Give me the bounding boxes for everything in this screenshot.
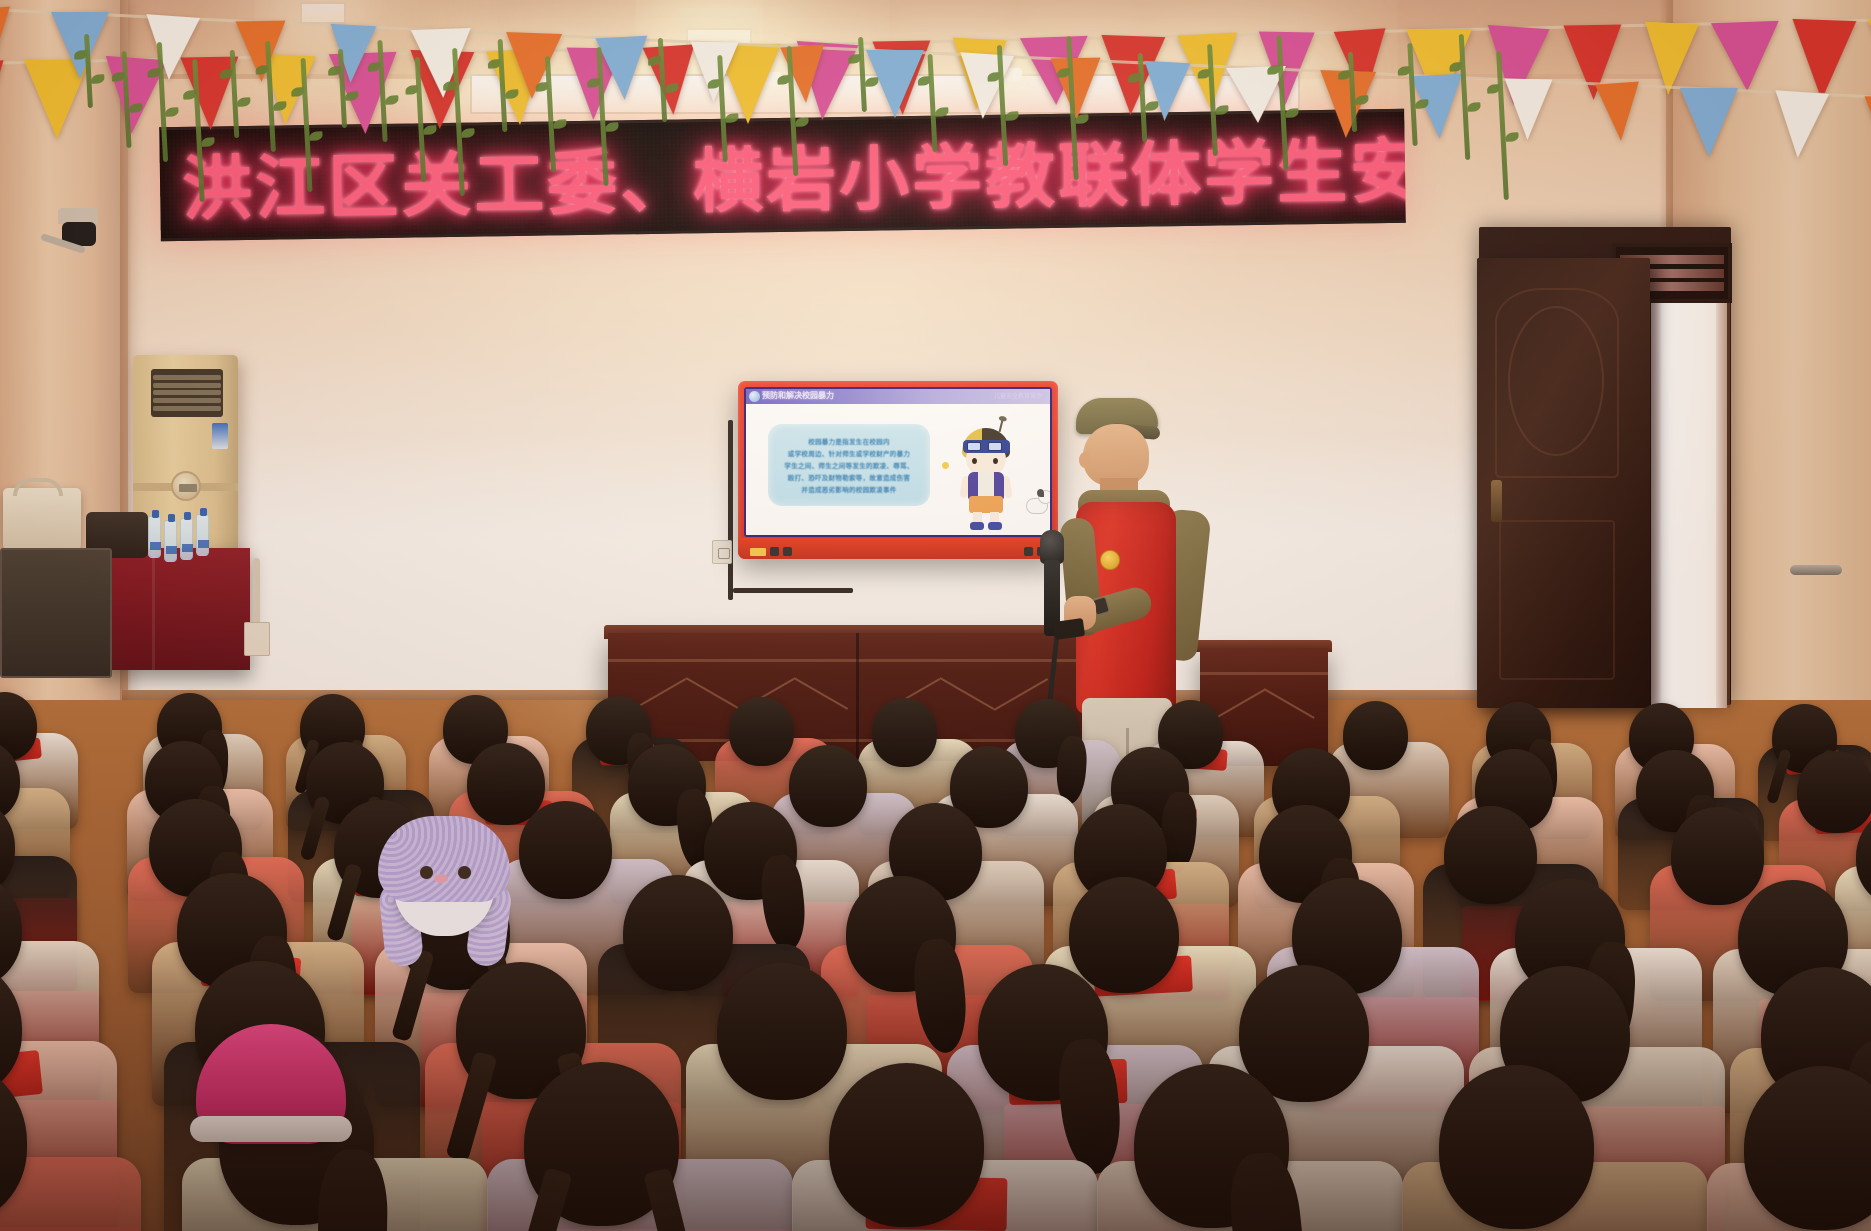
kid-head: [872, 698, 937, 767]
display-button-3[interactable]: [1024, 547, 1033, 556]
bunny-eye-right: [458, 866, 471, 879]
kid-head: [1797, 751, 1871, 833]
ac-vent-slat: [153, 375, 221, 380]
bunting-flag: [1680, 88, 1738, 157]
volunteer-badge-icon: [1100, 550, 1120, 570]
bunny-nose: [434, 874, 448, 883]
bunting-flag: [596, 36, 651, 102]
boy-shoe-right: [988, 522, 1002, 530]
bunting-flag: [1142, 61, 1191, 122]
boy-eye-left: [972, 458, 977, 464]
kid-head: [1671, 807, 1764, 905]
display-chin-bar: [738, 538, 1058, 559]
podium-chevron: [794, 677, 849, 710]
ceiling-light-panel-left: [300, 2, 346, 24]
door-lower-panel: [1499, 520, 1615, 680]
podium-center-seam: [856, 633, 859, 761]
bunting-flag: [1864, 96, 1871, 160]
podium-right-chevron: [1214, 689, 1265, 720]
kid-head: [1439, 1065, 1594, 1229]
bunting-flag: [1050, 58, 1101, 121]
ac-display-dial[interactable]: [171, 471, 201, 501]
shoulder-bag[interactable]: [3, 488, 81, 550]
pink-hat-brim: [190, 1116, 352, 1142]
ac-vent-slat: [153, 383, 221, 388]
podium-right-rail: [1200, 672, 1328, 675]
slide-callout-box: 校园暴力是指发生在校园内 或学校周边、针对师生或学校财产的暴力 学生之间、师生之…: [768, 424, 930, 506]
podium-chevron: [686, 677, 741, 710]
kid-head: [623, 875, 733, 991]
bunny-fur-hood: [378, 816, 510, 902]
bunting-flag: [1595, 82, 1643, 143]
kid-head: [829, 1063, 984, 1227]
water-bottle[interactable]: [180, 518, 193, 560]
display-power-led: [750, 548, 766, 556]
kid-head: [789, 745, 867, 827]
slide-title-bar: 预防和解决校园暴力 儿童安全教育课件: [746, 389, 1050, 404]
photo-scene: 洪江区关工委、横岩小学教联体学生安全教育 预防和解决校园暴力 儿童安全教育课件 …: [0, 0, 1871, 1231]
bunting-flag: [51, 12, 109, 79]
kid-head: [717, 963, 847, 1100]
bunting-flag: [956, 52, 1014, 121]
wall-junction-box: [244, 622, 270, 656]
security-door[interactable]: [1477, 258, 1650, 708]
ac-energy-label: [212, 423, 228, 449]
bunting-flag: [689, 41, 738, 102]
slide-corner-text: 儿童安全教育课件: [994, 391, 1042, 400]
bunting-flag: [1770, 90, 1828, 160]
door-lock-plate[interactable]: [1491, 480, 1502, 522]
kid-head: [519, 801, 612, 899]
cartoon-dog-illustration: [1024, 490, 1050, 524]
display-screen: 预防和解决校园暴力 儿童安全教育课件 校园暴力是指发生在校园内 或学校周边、针对…: [746, 389, 1050, 535]
interactive-display[interactable]: 预防和解决校园暴力 儿童安全教育课件 校园暴力是指发生在校园内 或学校周边、针对…: [738, 381, 1058, 559]
ac-vent-slat: [153, 390, 221, 395]
display-button-2[interactable]: [783, 547, 792, 556]
microphone-icon[interactable]: [1040, 530, 1064, 564]
boy-shoe-left: [970, 522, 984, 530]
slide-line-2: 或学校周边、针对师生或学校财产的暴力: [788, 448, 910, 458]
presenter-head: [1083, 424, 1149, 486]
table-cloth-fold: [152, 548, 155, 670]
bunting-flag: [1790, 19, 1857, 101]
water-bottle[interactable]: [196, 514, 209, 556]
slide-line-5: 并造成恶劣影响的校园欺凌事件: [801, 484, 896, 494]
doorway-shadow-edge: [1716, 258, 1730, 708]
slide-line-3: 学生之间、师生之间等发生的欺凌、辱骂、: [784, 460, 913, 470]
presenter-ear: [1079, 452, 1091, 468]
podium-right-chevron: [1264, 688, 1315, 719]
bunting-flag: [1318, 70, 1376, 139]
tv-cable-loop: [733, 588, 853, 593]
speaker-cabinet: [0, 548, 112, 678]
boy-shorts: [969, 496, 1003, 513]
cartoon-boy-illustration: [952, 420, 1022, 530]
boy-antenna: [999, 420, 1004, 432]
dog-ear: [1037, 489, 1044, 497]
slide-line-1: 校园暴力是指发生在校园内: [808, 436, 890, 446]
kid-head: [467, 743, 545, 825]
podium-chevron: [940, 677, 995, 710]
ac-air-vent: [151, 369, 223, 417]
water-bottle[interactable]: [148, 516, 161, 558]
ac-vent-slat: [153, 398, 221, 403]
bunting-flag: [1711, 20, 1781, 91]
kid-head: [1444, 806, 1537, 904]
kid-head: [729, 697, 794, 766]
door-oval-detail: [1508, 306, 1604, 456]
pink-knitted-hat: [196, 1024, 346, 1144]
tv-cable-vertical: [728, 420, 733, 600]
boy-goggle-lens-left: [967, 442, 981, 451]
slide-line-4: 殴打、恐吓及财物勒索等，故意造成伤害: [788, 472, 910, 482]
water-bottle[interactable]: [164, 520, 177, 562]
boy-shirt: [978, 472, 994, 498]
wall-power-socket[interactable]: [712, 540, 732, 564]
slide-body: 校园暴力是指发生在校园内 或学校周边、针对师生或学校财产的暴力 学生之间、师生之…: [746, 404, 1050, 535]
slide-title-text: 预防和解决校园暴力: [762, 390, 834, 401]
wall-conduit: [253, 558, 260, 628]
kid-head: [1343, 701, 1408, 770]
ac-vent-slat: [153, 406, 221, 411]
bunny-ear-hood: [378, 816, 510, 964]
display-control-strip-left[interactable]: [750, 547, 792, 556]
bunting-flag: [1504, 79, 1553, 141]
display-button-1[interactable]: [770, 547, 779, 556]
side-table-with-red-cloth: [96, 548, 250, 670]
outer-door-handle[interactable]: [1790, 565, 1842, 575]
bunny-eye-left: [420, 866, 433, 879]
kid-head: [1069, 877, 1179, 993]
boy-goggle-lens-right: [988, 442, 1002, 451]
boy-eye-right: [993, 458, 998, 464]
slide-bullet-dot: [942, 462, 949, 469]
display-bezel: 预防和解决校园暴力 儿童安全教育课件 校园暴力是指发生在校园内 或学校周边、针对…: [744, 387, 1052, 537]
slide-title-icon: [749, 391, 760, 402]
